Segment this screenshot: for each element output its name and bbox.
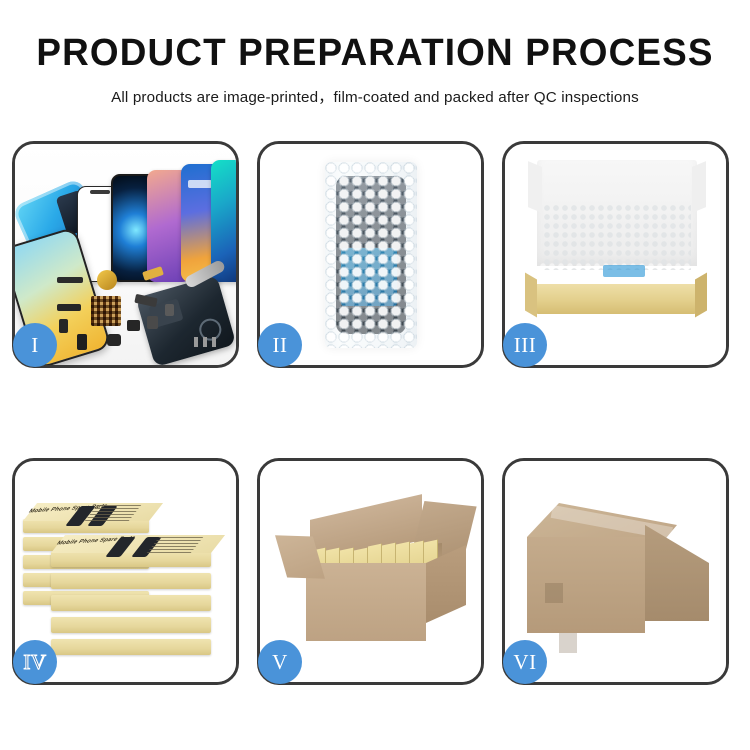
sealed-shipping-carton xyxy=(527,503,711,649)
foam-liner-icon xyxy=(543,204,691,270)
page-header: PRODUCT PREPARATION PROCESS All products… xyxy=(0,0,750,107)
process-step-panel-4: Mobile Phone Spare Parts Mobile Phone Sp… xyxy=(12,458,239,685)
retail-box xyxy=(51,639,211,655)
small-part-icon xyxy=(127,320,140,331)
carton-seam-icon xyxy=(545,583,563,603)
process-step-panel-5: V xyxy=(257,458,484,685)
bubble-highlight-icon xyxy=(325,162,417,348)
step-badge-3: III xyxy=(503,323,547,367)
process-step-panel-6: VI xyxy=(502,458,729,685)
small-part-icon xyxy=(57,304,81,311)
kraft-box-base-icon xyxy=(533,284,699,314)
flex-cable-icon xyxy=(57,277,83,283)
step-badge-6: VI xyxy=(503,640,547,684)
process-step-panel-3: III xyxy=(502,141,729,368)
retail-box: Mobile Phone Spare Parts xyxy=(51,551,211,567)
step-badge-2: II xyxy=(258,323,302,367)
speaker-module-icon xyxy=(97,270,117,290)
step-badge-1: I xyxy=(13,323,57,367)
retail-box xyxy=(51,573,211,589)
small-part-icon xyxy=(107,334,121,346)
carton-side-face-icon xyxy=(645,525,709,621)
process-step-panel-1: I xyxy=(12,141,239,368)
retail-box xyxy=(51,617,211,633)
process-steps-grid: I II III xyxy=(12,141,738,733)
product-preparation-infographic: PRODUCT PREPARATION PROCESS All products… xyxy=(0,0,750,750)
bubble-wrap-package xyxy=(325,162,417,348)
small-part-icon xyxy=(147,316,158,329)
carton-front-face-icon xyxy=(527,537,645,633)
small-part-icon xyxy=(165,304,174,316)
process-step-panel-2: II xyxy=(257,141,484,368)
open-shipping-carton xyxy=(286,501,462,651)
retail-box xyxy=(51,595,211,611)
screws-icon xyxy=(194,337,220,347)
page-subtitle: All products are image-printed，film-coat… xyxy=(0,85,750,107)
small-part-icon xyxy=(77,334,87,350)
step-badge-4: IV xyxy=(13,640,57,684)
retail-box-stack: Mobile Phone Spare Parts Mobile Phone Sp… xyxy=(23,485,229,661)
page-title: PRODUCT PREPARATION PROCESS xyxy=(11,34,739,72)
retail-box: Mobile Phone Spare Parts xyxy=(23,519,149,533)
step-badge-5: V xyxy=(258,640,302,684)
small-part-icon xyxy=(59,319,68,333)
carton-seam-icon xyxy=(559,633,577,653)
logic-board-icon xyxy=(91,296,121,326)
